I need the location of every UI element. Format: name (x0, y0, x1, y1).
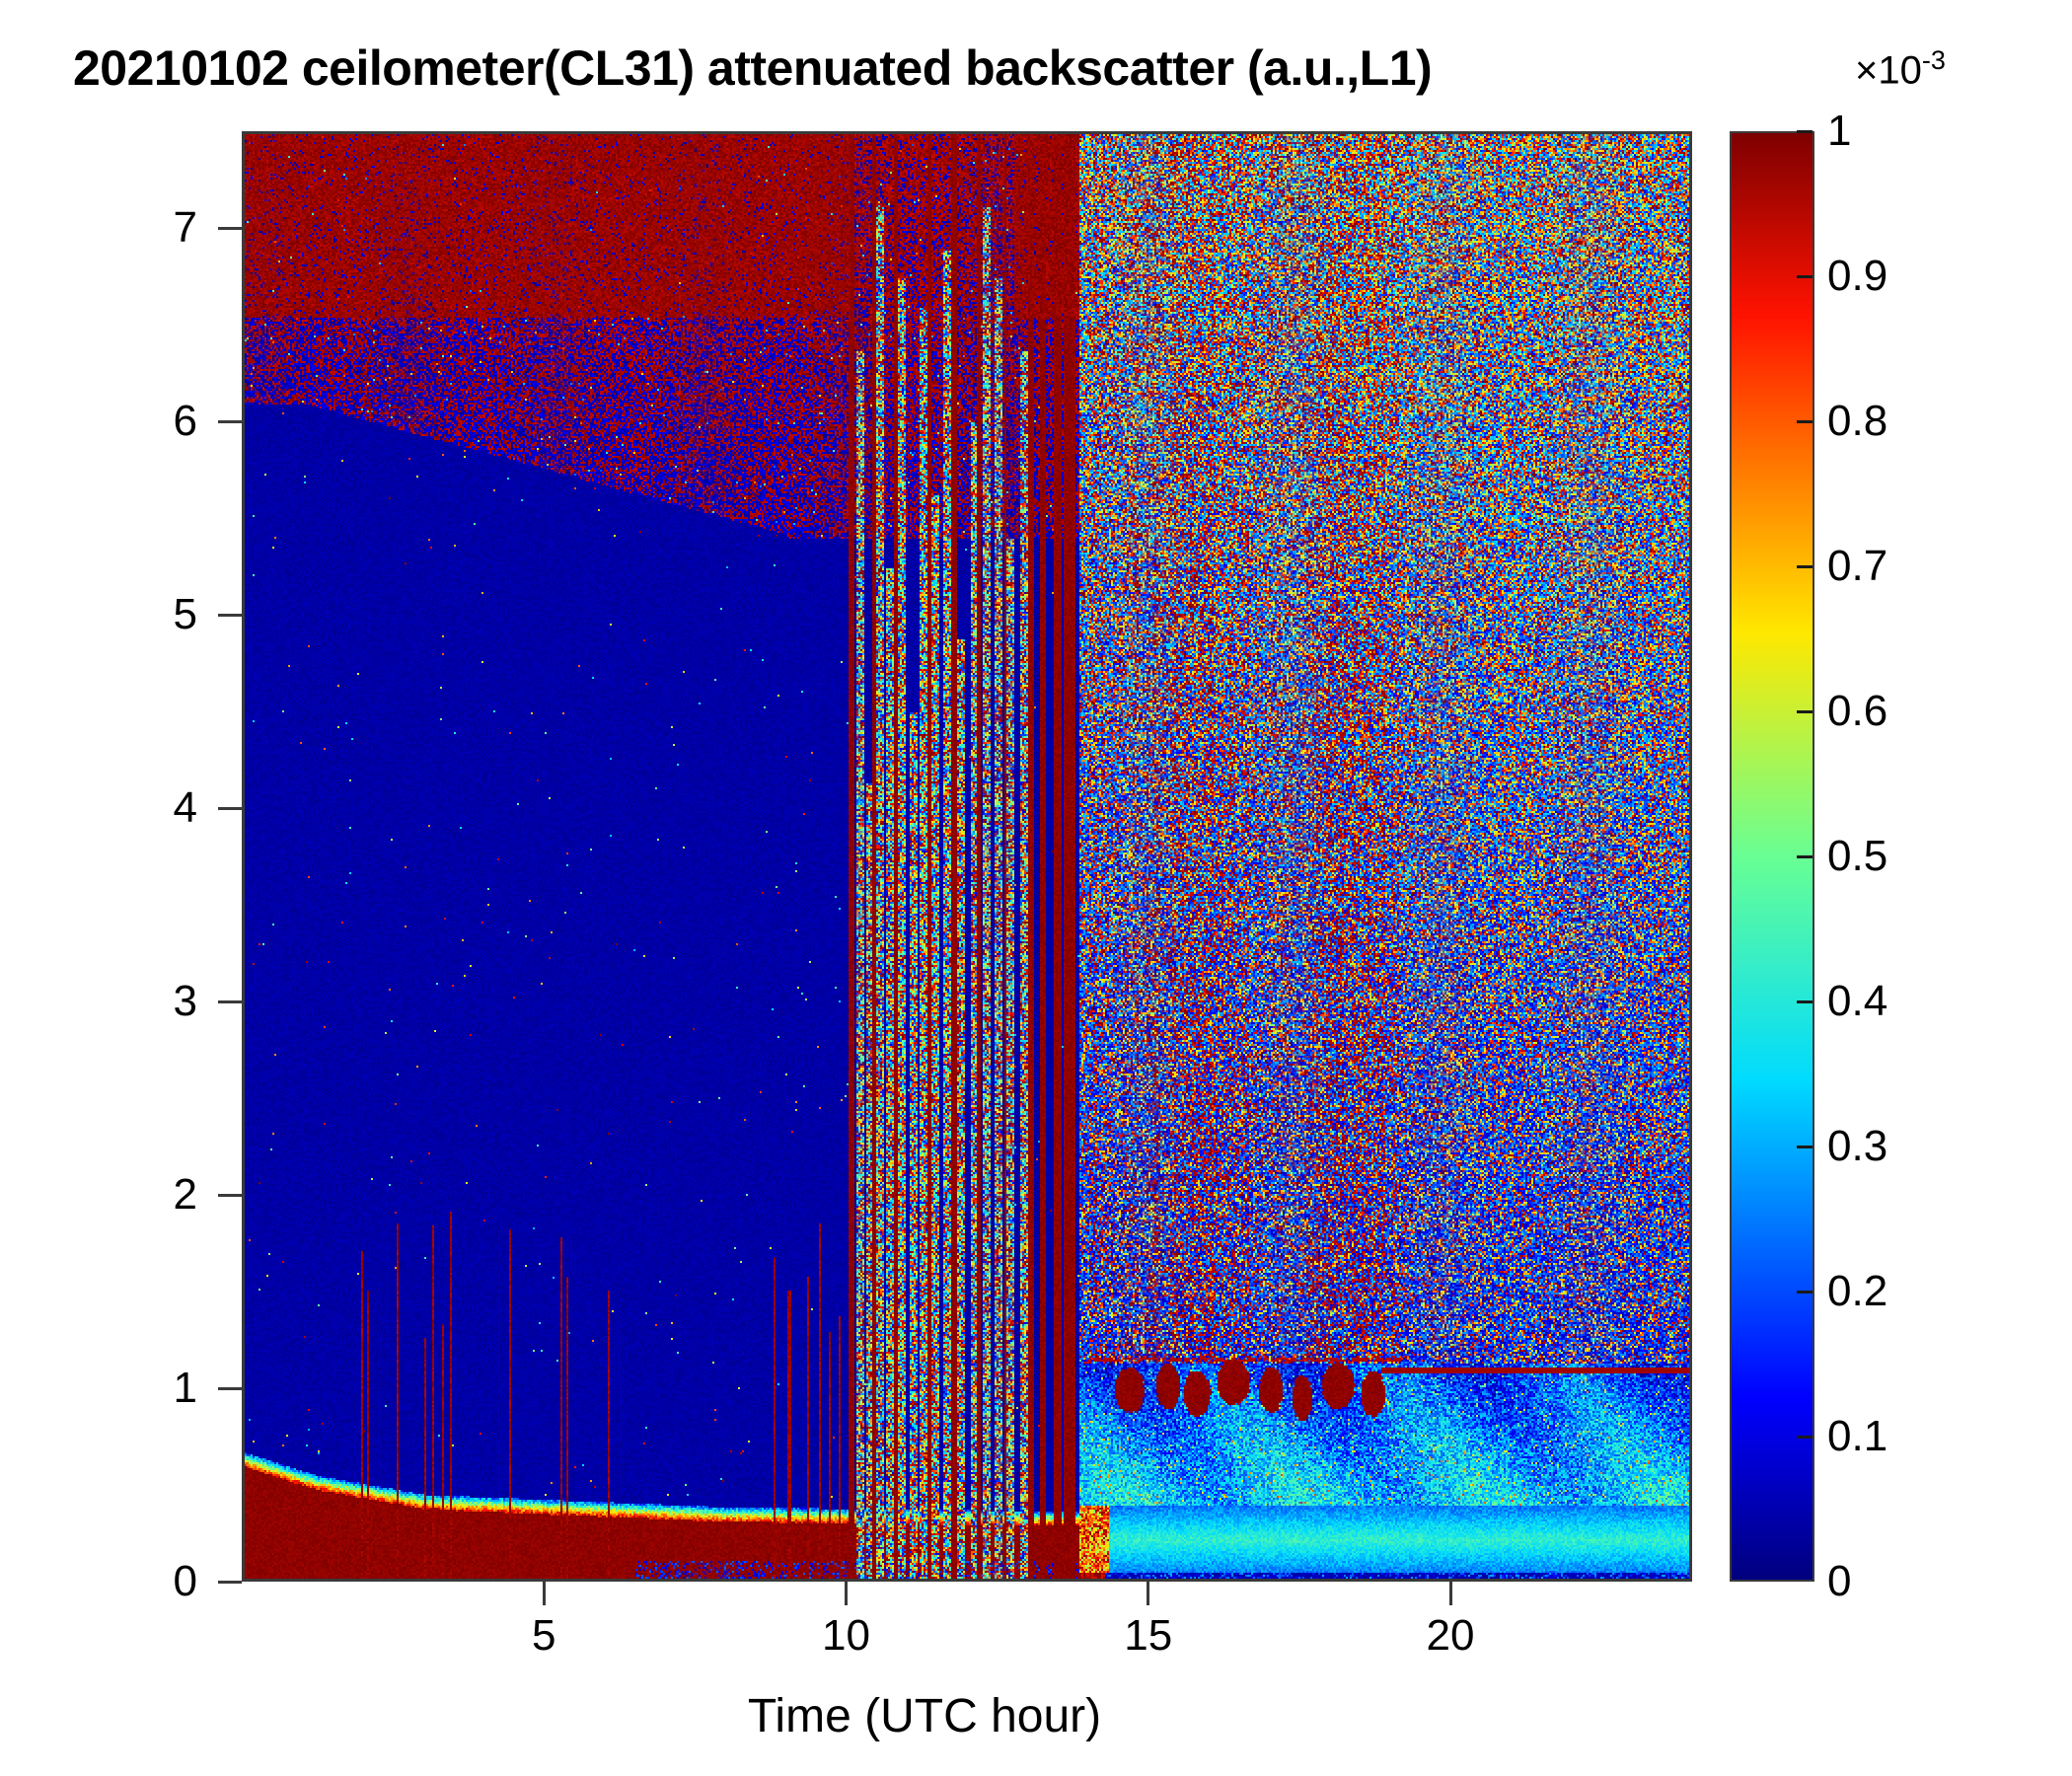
colorbar-tick-label: 0.5 (1827, 835, 1887, 878)
y-tick-label: 3 (118, 980, 197, 1023)
colorbar-tick-label: 0.2 (1827, 1270, 1887, 1313)
x-tick (1147, 1582, 1149, 1605)
colorbar-tick (1797, 710, 1813, 713)
colorbar-tick-label: 0.3 (1827, 1125, 1887, 1168)
colorbar-tick (1797, 1000, 1813, 1003)
colorbar-exponent-mantissa: ×10 (1855, 48, 1922, 92)
colorbar-tick-label: 0.6 (1827, 690, 1887, 733)
colorbar-tick (1797, 130, 1813, 133)
colorbar-exponent-label: ×10-3 (1855, 45, 1946, 93)
y-tick (218, 1194, 242, 1197)
x-tick-label: 15 (1124, 1614, 1172, 1658)
y-tick-label: 5 (118, 593, 197, 636)
y-tick (218, 420, 242, 423)
x-tick (543, 1582, 546, 1605)
colorbar-tick (1797, 420, 1813, 423)
y-tick-label: 1 (118, 1367, 197, 1410)
plot-area[interactable] (242, 131, 1692, 1582)
colorbar-tick-label: 0.7 (1827, 545, 1887, 588)
y-tick (218, 1581, 242, 1584)
colorbar-tick-label: 1 (1827, 110, 1851, 153)
colorbar-tick-label: 0 (1827, 1560, 1851, 1603)
y-tick-label: 2 (118, 1173, 197, 1217)
y-tick-label: 7 (118, 206, 197, 250)
x-tick-label: 5 (532, 1614, 555, 1658)
y-tick-label: 0 (118, 1560, 197, 1603)
colorbar-tick (1797, 855, 1813, 858)
x-tick (845, 1582, 848, 1605)
colorbar-tick-label: 0.4 (1827, 980, 1887, 1023)
chart-title: 20210102 ceilometer(CL31) attenuated bac… (73, 43, 1432, 93)
x-tick (1449, 1582, 1452, 1605)
y-tick (218, 1000, 242, 1003)
y-tick (218, 1387, 242, 1390)
y-tick (218, 227, 242, 230)
colorbar-tick-label: 0.9 (1827, 255, 1887, 298)
x-axis-label: Time (UTC hour) (0, 1689, 2072, 1743)
colorbar-tick (1797, 565, 1813, 568)
colorbar-exponent-power: -3 (1922, 45, 1946, 75)
colorbar-tick (1797, 275, 1813, 278)
figure-root: 20210102 ceilometer(CL31) attenuated bac… (0, 0, 2072, 1776)
colorbar-tick (1797, 1291, 1813, 1294)
y-tick-label: 6 (118, 400, 197, 443)
x-tick-label: 20 (1427, 1614, 1475, 1658)
colorbar-tick (1797, 1146, 1813, 1148)
backscatter-heatmap[interactable] (245, 134, 1689, 1579)
colorbar-tick-label: 0.8 (1827, 400, 1887, 443)
y-tick (218, 614, 242, 617)
x-tick-label: 10 (822, 1614, 870, 1658)
y-tick (218, 807, 242, 810)
x-axis-label-text: Time (UTC hour) (748, 1689, 1101, 1743)
y-tick-label: 4 (118, 786, 197, 830)
colorbar-tick (1797, 1436, 1813, 1439)
colorbar-tick-label: 0.1 (1827, 1415, 1887, 1458)
